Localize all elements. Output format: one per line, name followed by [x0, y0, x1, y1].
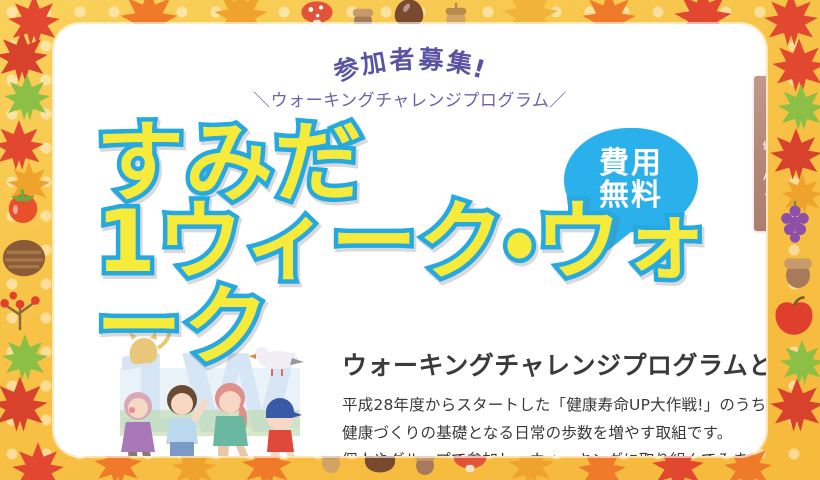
- title-line-2: 1ウィーク・ウォーク 1ウィーク・ウォーク: [54, 200, 744, 369]
- badge-line-2: 無料: [599, 180, 663, 212]
- title-line-2-text: 1ウィーク・ウォーク: [96, 200, 744, 369]
- badge-line-1: 費用: [599, 148, 663, 180]
- award-word: AWARD: [754, 170, 766, 183]
- body-line-1: 平成28年度からスタートした「健康寿命UP大作戦!」のうち: [342, 392, 766, 420]
- kicker-label: 参加者募集!: [339, 49, 481, 78]
- poster-card: 参加者募集! ＼ウォーキングチャレンジプログラム／ すみだ すみだ 1ウィーク・…: [54, 24, 766, 456]
- kicker-text: 参加者募集!: [54, 44, 766, 84]
- award-kanji: 寿 ♥: [754, 94, 766, 136]
- free-cost-badge-text: 費用 無料: [599, 148, 663, 212]
- award-line-2: のばそう!: [754, 154, 766, 168]
- award-seal: 第8回 寿 ♥ 健康寿命を のばそう! AWARD 優良賞: [754, 76, 766, 231]
- poster-root: 参加者募集! ＼ウォーキングチャレンジプログラム／ すみだ すみだ 1ウィーク・…: [0, 0, 820, 480]
- body-line-3: 個人やグループで参加し、ウォーキングに取り組んでみませんか?: [342, 447, 766, 456]
- section-body: 平成28年度からスタートした「健康寿命UP大作戦!」のうち 健康づくりの基礎とな…: [342, 392, 766, 456]
- award-kanji-glyph: 寿: [765, 89, 766, 140]
- body-line-2: 健康づくりの基礎となる日常の歩数を増やす取組です。: [342, 420, 766, 448]
- walker-figure: [121, 392, 155, 456]
- subkicker-text: ＼ウォーキングチャレンジプログラム／: [54, 86, 766, 111]
- award-prize: 優良賞: [754, 187, 766, 203]
